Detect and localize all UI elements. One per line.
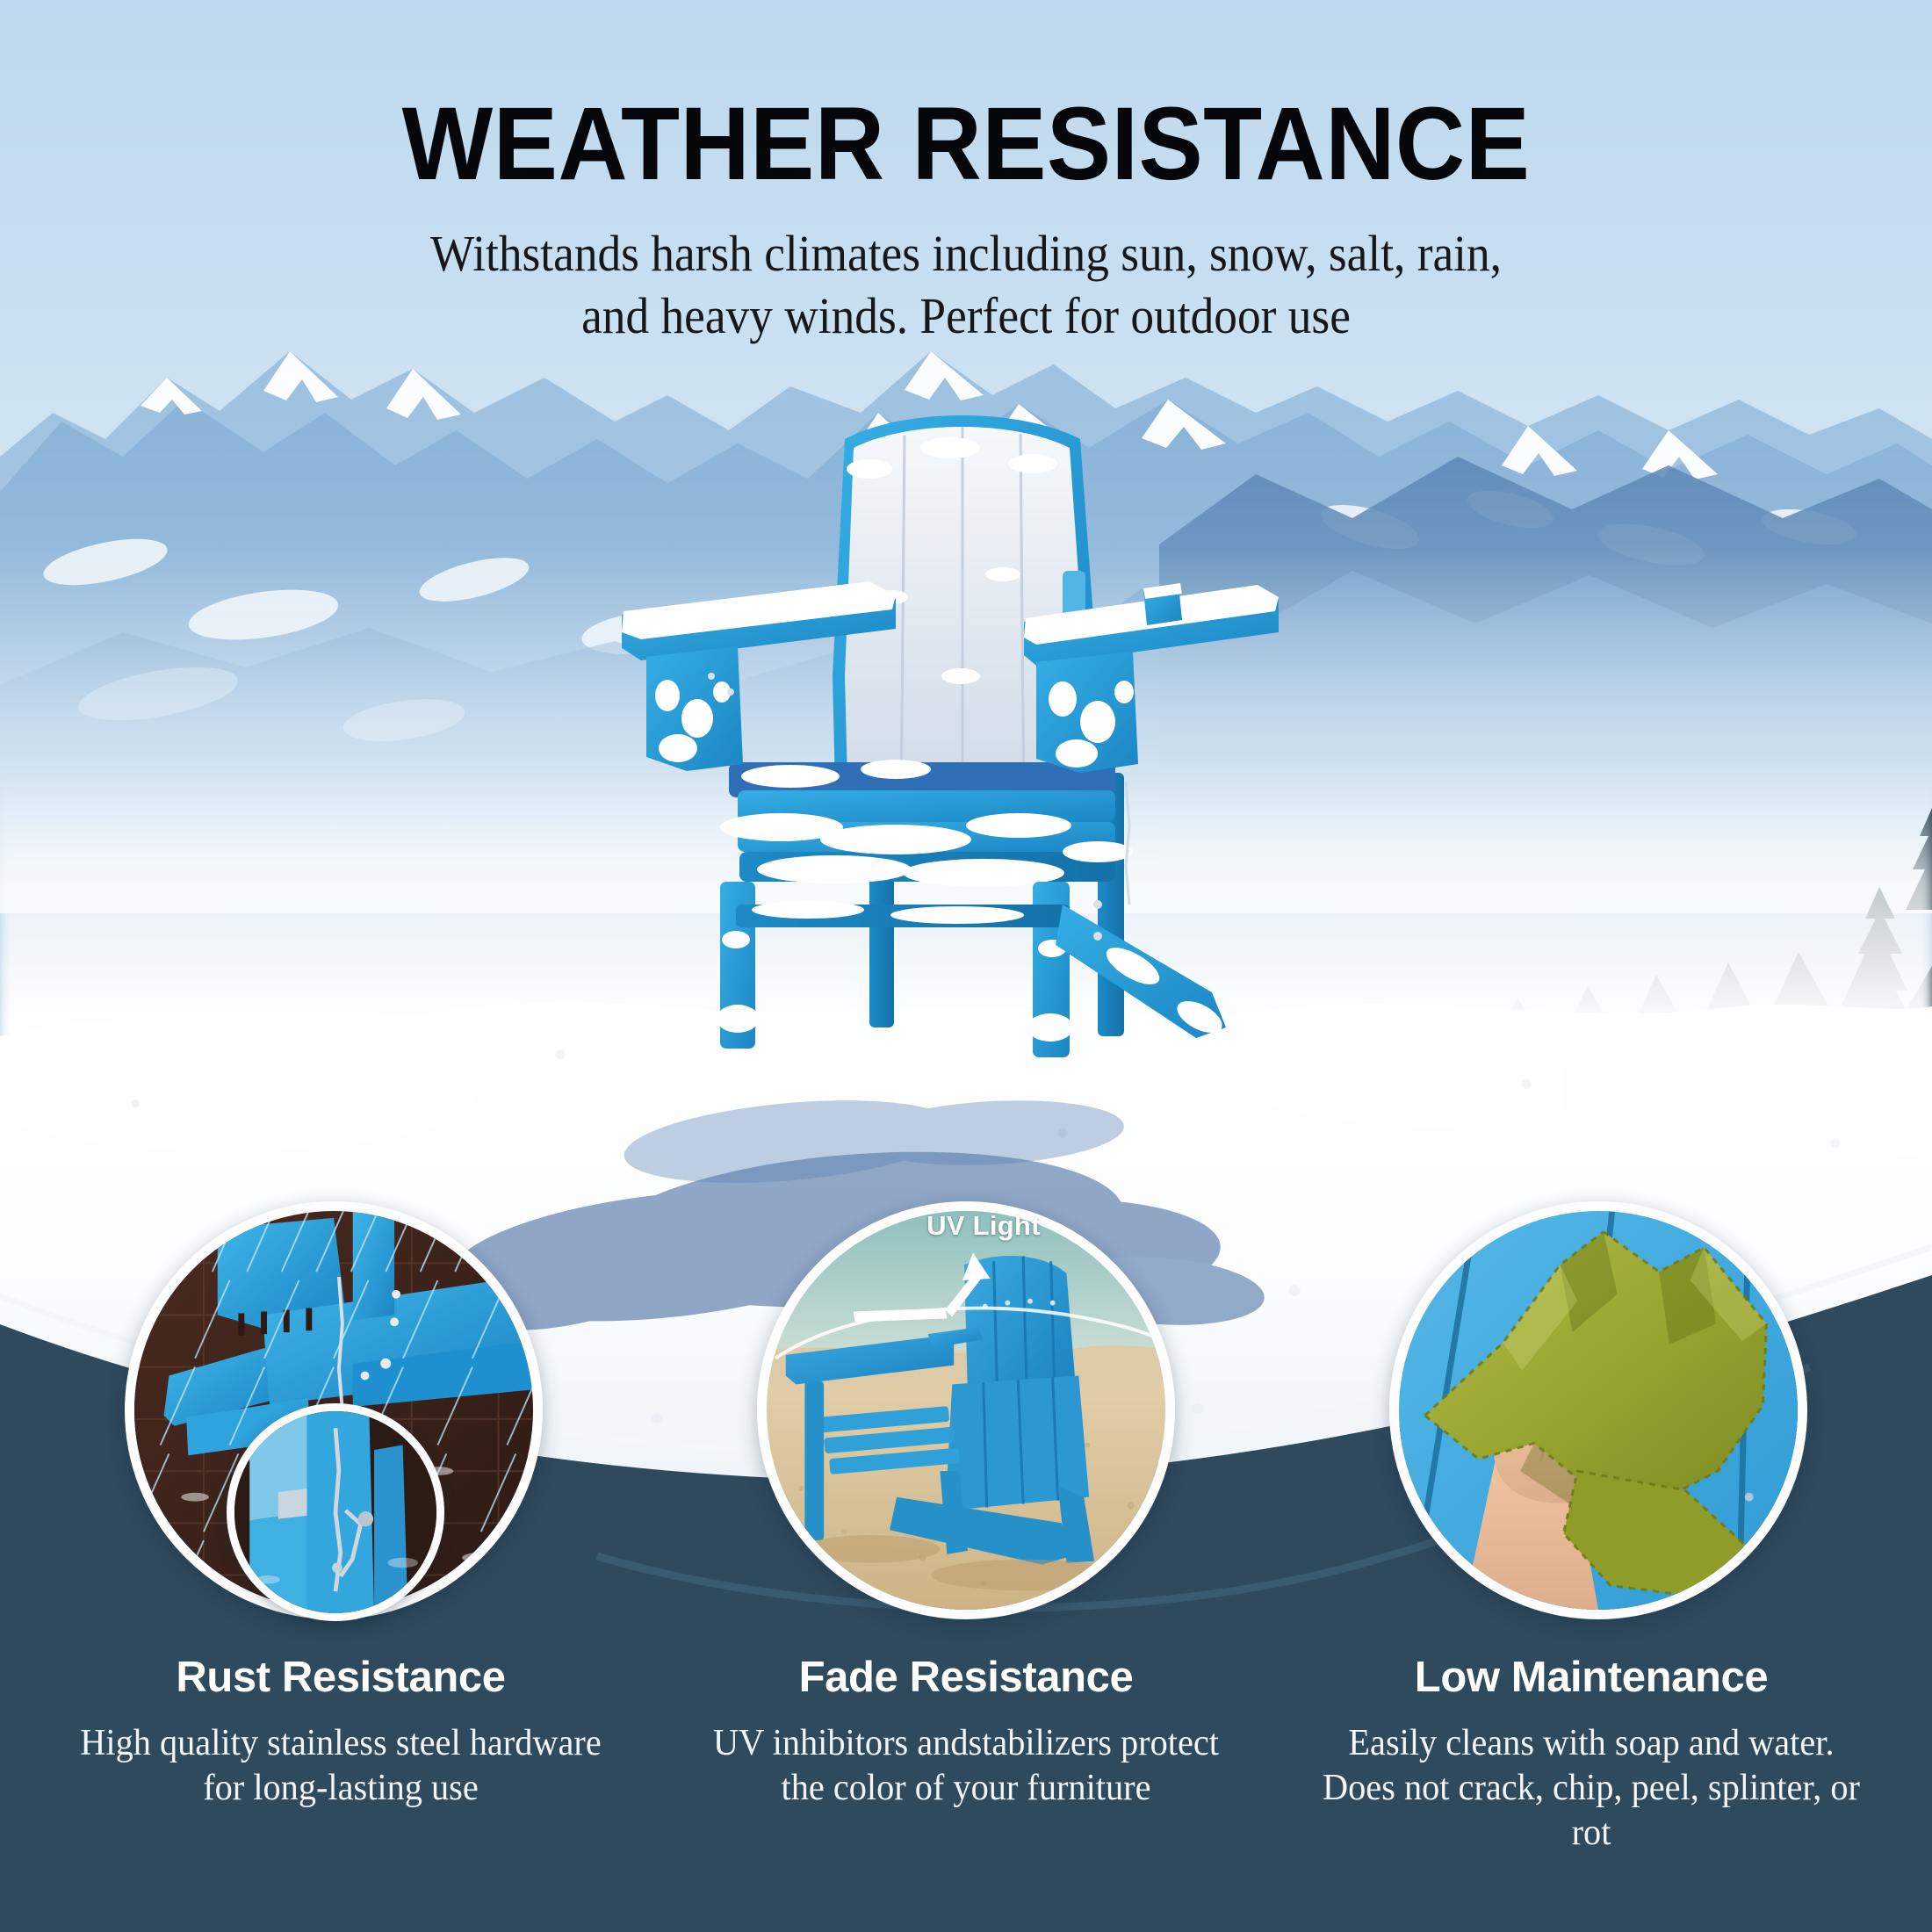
subtitle-line-1: Withstands harsh climates including sun,…: [77, 223, 1855, 285]
snow-covered-chair: [606, 413, 1291, 1080]
feature-title-rust-resistance: Rust Resistance: [51, 1654, 631, 1702]
uv-light-label: UV Light: [905, 1210, 1063, 1242]
feature-block-rust-resistance: Rust Resistance High quality stainless s…: [51, 1654, 631, 1811]
subtitle-line-2: and heavy winds. Perfect for outdoor use: [77, 285, 1855, 348]
page-title: WEATHER RESISTANCE: [68, 91, 1864, 197]
infographic-canvas: WEATHER RESISTANCE Withstands harsh clim…: [0, 0, 1932, 1932]
feature-block-fade-resistance: Fade Resistance UV inhibitors andstabili…: [676, 1654, 1256, 1811]
feature-title-fade-resistance: Fade Resistance: [676, 1654, 1256, 1702]
page-subtitle: Withstands harsh climates including sun,…: [77, 223, 1855, 348]
feature-image-low-maintenance[interactable]: [1389, 1201, 1807, 1619]
feature-block-low-maintenance: Low Maintenance Easily cleans with soap …: [1301, 1654, 1881, 1855]
feature-description-fade-resistance: UV inhibitors andstabilizers protect the…: [688, 1721, 1244, 1811]
feature-title-low-maintenance: Low Maintenance: [1301, 1654, 1881, 1702]
feature-inset-stainless-chain[interactable]: [227, 1403, 444, 1621]
feature-description-rust-resistance: High quality stainless steel hardware fo…: [62, 1721, 619, 1811]
feature-image-fade-resistance[interactable]: [757, 1201, 1175, 1619]
header-block: WEATHER RESISTANCE Withstands harsh clim…: [0, 0, 1932, 348]
feature-description-low-maintenance: Easily cleans with soap and water. Does …: [1313, 1721, 1870, 1855]
